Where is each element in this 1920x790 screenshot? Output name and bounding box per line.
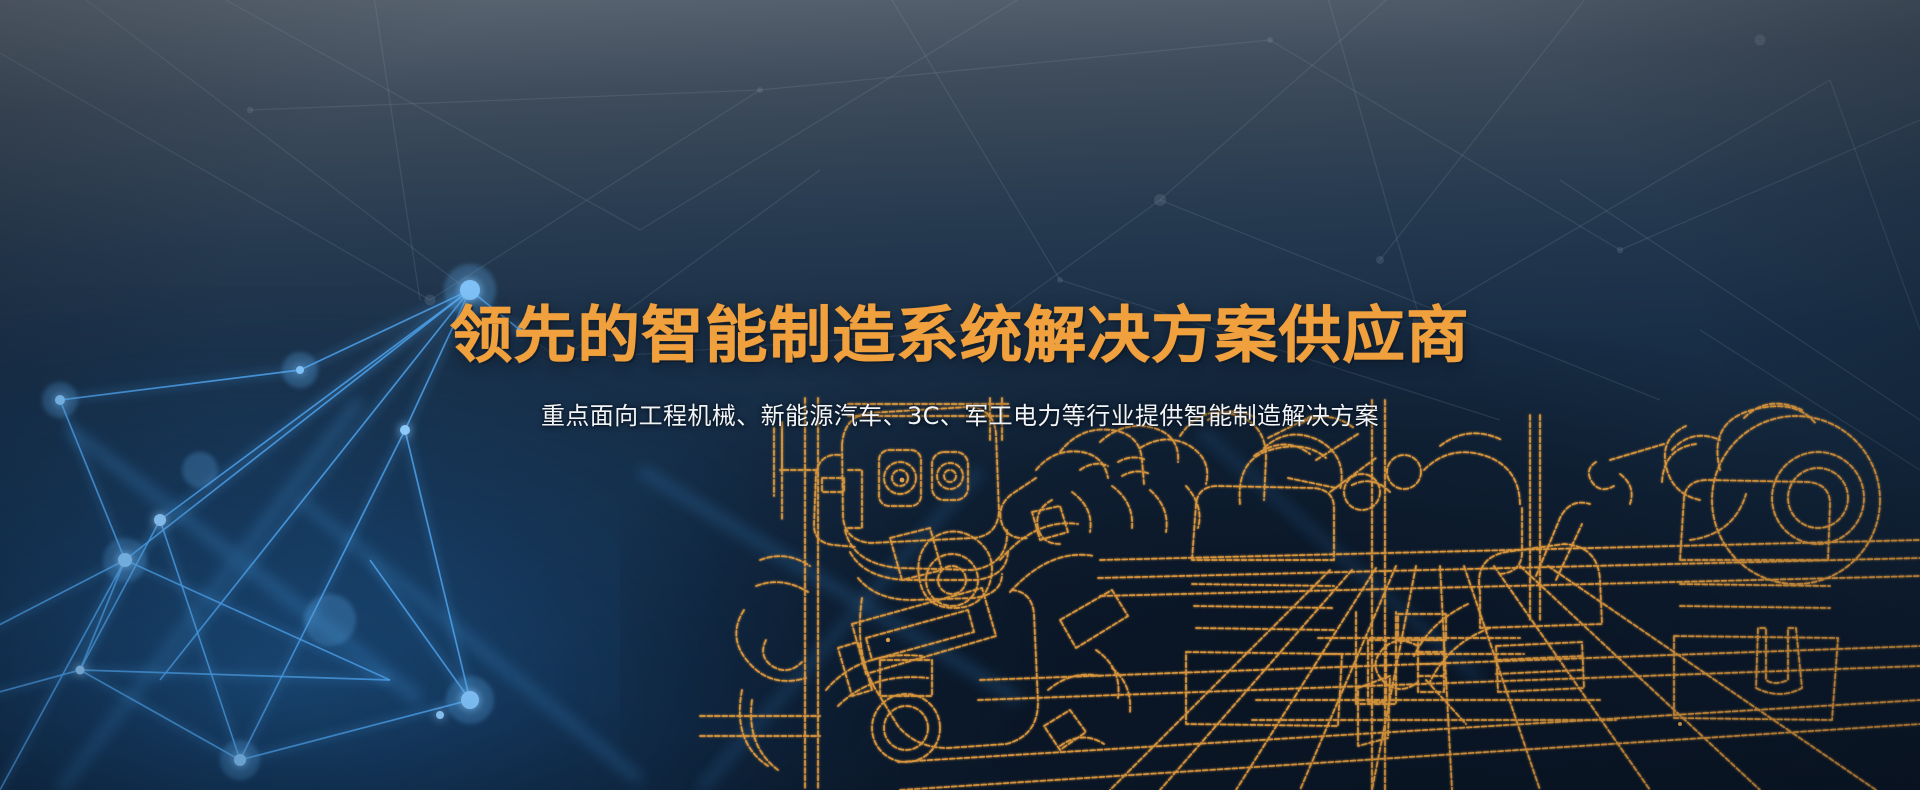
subheadline-container: 重点面向工程机械、新能源汽车、3C、军工电力等行业提供智能制造解决方案: [0, 377, 1920, 455]
hero-banner: 领先的智能制造系统解决方案供应商 重点面向工程机械、新能源汽车、3C、军工电力等…: [0, 0, 1920, 790]
page-title: 领先的智能制造系统解决方案供应商: [450, 303, 1470, 369]
page-subtitle: 重点面向工程机械、新能源汽车、3C、军工电力等行业提供智能制造解决方案: [541, 401, 1379, 431]
